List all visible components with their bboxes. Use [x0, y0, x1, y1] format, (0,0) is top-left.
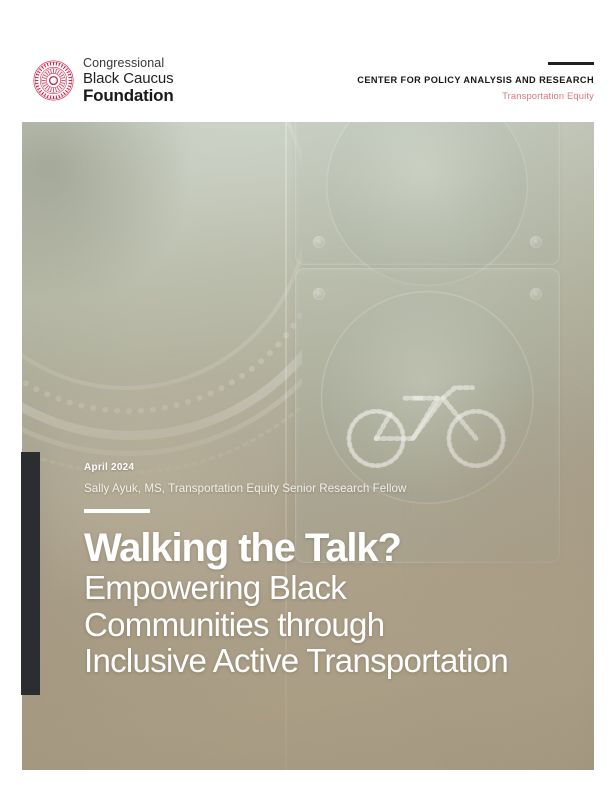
center-sublabel: Transportation Equity: [357, 90, 594, 101]
title-accent-bar: [21, 452, 40, 695]
title-line-3: Communities through: [84, 607, 584, 643]
title-line-2: Empowering Black: [84, 570, 584, 606]
wordmark-line-2: Black Caucus: [83, 71, 174, 86]
cover-header: Congressional Black Caucus Foundation CE…: [0, 0, 616, 122]
title-line-4: Inclusive Active Transportation: [84, 643, 584, 679]
wordmark-line-3: Foundation: [83, 87, 174, 104]
cbcf-seal-icon: [33, 60, 74, 101]
wordmark-line-1: Congressional: [83, 57, 174, 70]
cbcf-wordmark: Congressional Black Caucus Foundation: [83, 57, 174, 104]
cover-title-block: April 2024 Sally Ayuk, MS, Transportatio…: [84, 462, 584, 680]
document-title: Walking the Talk? Empowering Black Commu…: [84, 526, 584, 680]
center-label: CENTER FOR POLICY ANALYSIS AND RESEARCH: [357, 75, 594, 85]
cbcf-logo-lockup[interactable]: Congressional Black Caucus Foundation: [33, 57, 174, 104]
header-rule: [548, 62, 594, 65]
publication-date: April 2024: [84, 462, 584, 473]
author-byline: Sally Ayuk, MS, Transportation Equity Se…: [84, 482, 584, 495]
title-divider-rule: [84, 509, 150, 513]
report-cover-page: Congressional Black Caucus Foundation CE…: [0, 0, 616, 800]
center-identifier: CENTER FOR POLICY ANALYSIS AND RESEARCH …: [357, 62, 594, 101]
title-line-1: Walking the Talk?: [84, 526, 584, 570]
